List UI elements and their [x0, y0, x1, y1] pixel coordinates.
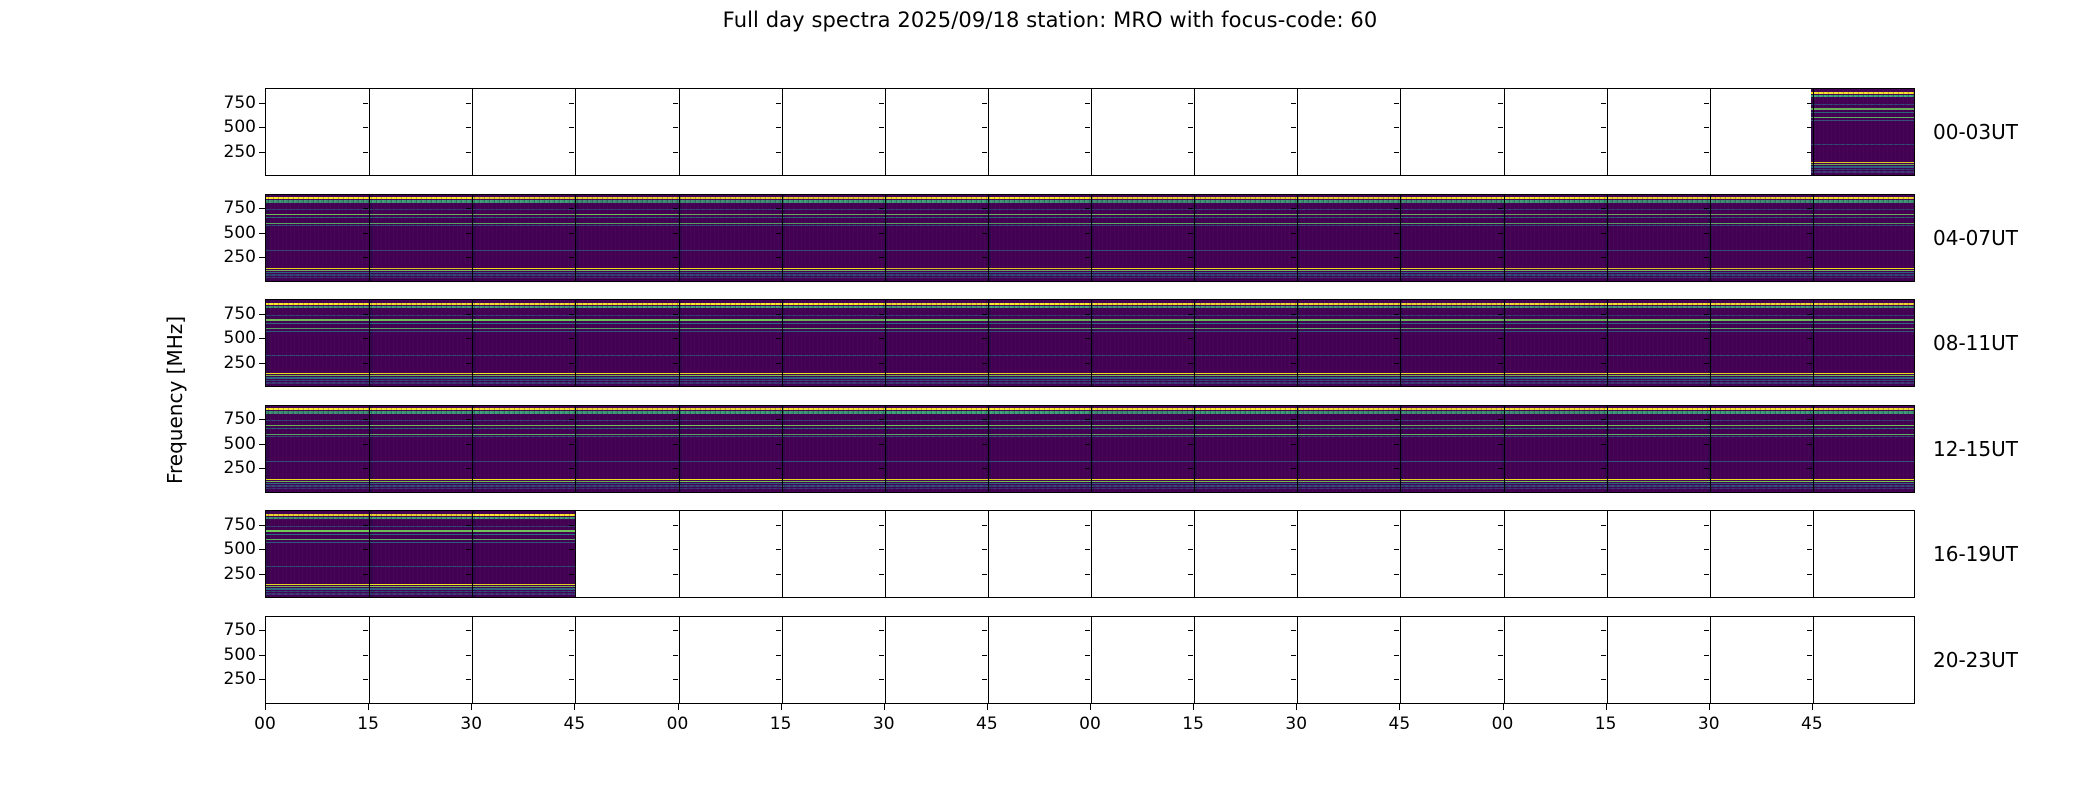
spectral-band	[987, 303, 1090, 305]
spectral-band	[472, 331, 575, 332]
spectral-band	[1811, 277, 1914, 279]
y-axis-tick	[259, 314, 265, 315]
spectral-band	[1811, 270, 1914, 271]
y-axis-minor-tick	[1394, 525, 1399, 526]
y-axis-minor-tick	[1601, 574, 1606, 575]
y-axis-minor-tick	[466, 655, 471, 656]
spectral-band	[884, 436, 987, 437]
spectral-band	[369, 514, 472, 516]
spectral-band	[369, 200, 472, 202]
spectrogram-panel[interactable]	[575, 89, 678, 175]
spectral-band	[472, 591, 575, 593]
y-axis-tick-label: 500	[224, 434, 256, 454]
spectral-band	[1296, 355, 1399, 356]
spectrogram-panel[interactable]	[1811, 617, 1914, 703]
spectral-band	[987, 461, 1090, 462]
spectral-band	[1296, 408, 1399, 410]
y-axis-minor-tick	[1601, 419, 1606, 420]
panel-separator	[1091, 300, 1092, 386]
y-axis-minor-tick	[1601, 444, 1606, 445]
spectral-band	[678, 323, 781, 324]
spectral-band	[266, 539, 369, 540]
y-axis-minor-tick	[1601, 257, 1606, 258]
spectrogram-panel[interactable]	[1090, 617, 1193, 703]
spectrogram-panel[interactable]	[1090, 406, 1193, 492]
spectral-band	[1605, 225, 1708, 226]
spectral-band	[987, 315, 1090, 316]
y-axis-minor-tick	[466, 419, 471, 420]
spectral-band	[1193, 483, 1296, 485]
spectrogram-panel[interactable]	[266, 89, 369, 175]
spectral-band	[1502, 377, 1605, 379]
y-axis-minor-tick	[1085, 208, 1090, 209]
spectral-band	[1811, 375, 1914, 376]
spectral-band	[1399, 209, 1502, 210]
spectrogram-panel[interactable]	[1708, 406, 1811, 492]
spectrogram-panel[interactable]	[1296, 406, 1399, 492]
spectral-band	[884, 225, 987, 226]
y-axis-minor-tick	[466, 257, 471, 258]
spectrogram-panel[interactable]	[781, 195, 884, 281]
y-axis-minor-tick	[879, 257, 884, 258]
spectral-band	[678, 488, 781, 490]
y-axis-minor-tick	[363, 679, 368, 680]
y-axis-minor-tick	[1807, 655, 1812, 656]
spectral-band	[1605, 377, 1708, 379]
y-axis-tick	[259, 419, 265, 420]
spectral-band	[781, 377, 884, 379]
spectrogram-panel[interactable]	[678, 617, 781, 703]
spectral-band	[472, 277, 575, 279]
spectral-band	[678, 214, 781, 215]
spectrogram-panel[interactable]	[1090, 300, 1193, 386]
spectrogram-row: 25050075020-23UT001530450015304500153045…	[265, 616, 1915, 704]
y-axis-minor-tick	[1394, 152, 1399, 153]
spectrogram-panel[interactable]	[781, 300, 884, 386]
spectral-band	[575, 382, 678, 384]
spectral-band	[575, 217, 678, 218]
spectrogram-panel[interactable]	[575, 300, 678, 386]
panel-separator	[1504, 300, 1505, 386]
spectral-band	[884, 483, 987, 485]
spectrogram-panel[interactable]	[266, 195, 369, 281]
spectral-band	[678, 274, 781, 276]
y-axis-minor-tick	[1601, 363, 1606, 364]
spectrogram-panel[interactable]	[1502, 300, 1605, 386]
spectrogram-panel[interactable]	[1502, 511, 1605, 597]
x-axis-tick-label: 45	[976, 714, 998, 734]
spectral-band	[575, 277, 678, 279]
y-axis-minor-tick	[1085, 152, 1090, 153]
spectrogram-panel[interactable]	[266, 406, 369, 492]
spectral-band	[369, 428, 472, 429]
spectral-band	[1811, 328, 1914, 329]
panel-separator	[575, 300, 576, 386]
y-axis-minor-tick	[1291, 152, 1296, 153]
spectral-band	[678, 209, 781, 210]
spectrogram-panel[interactable]	[1193, 406, 1296, 492]
y-axis-tick-label: 250	[224, 458, 256, 478]
spectral-band	[1399, 411, 1502, 413]
x-axis-tick-label: 00	[667, 714, 689, 734]
y-axis-minor-tick	[879, 468, 884, 469]
spectral-band	[369, 277, 472, 279]
panel-separator	[575, 89, 576, 175]
y-axis-minor-tick	[879, 525, 884, 526]
spectrogram-panel[interactable]	[266, 511, 369, 597]
row-axes	[265, 405, 1915, 493]
spectral-band	[1193, 355, 1296, 356]
spectrogram-panel[interactable]	[1399, 406, 1502, 492]
spectrogram-panel[interactable]	[987, 617, 1090, 703]
spectrogram-panel[interactable]	[472, 617, 575, 703]
spectral-band	[369, 197, 472, 199]
spectrogram-panel[interactable]	[369, 89, 472, 175]
spectrogram-panel[interactable]	[1296, 300, 1399, 386]
spectrogram-panel[interactable]	[1399, 195, 1502, 281]
spectrogram-panel[interactable]	[678, 511, 781, 597]
spectrogram-panel[interactable]	[1399, 617, 1502, 703]
spectral-band	[1708, 485, 1811, 487]
y-axis-minor-tick	[1807, 574, 1812, 575]
y-axis-tick-label: 250	[224, 247, 256, 267]
spectrogram-panel[interactable]	[1090, 511, 1193, 597]
spectral-band	[1708, 209, 1811, 210]
y-axis-tick-label: 500	[224, 645, 256, 665]
spectrogram-panel[interactable]	[1193, 511, 1296, 597]
spectrogram-panel[interactable]	[1502, 195, 1605, 281]
panel-separator	[472, 617, 473, 703]
y-axis-minor-tick	[776, 127, 781, 128]
spectrogram-panel[interactable]	[678, 195, 781, 281]
panel-separator	[472, 195, 473, 281]
y-axis-minor-tick	[1807, 630, 1812, 631]
y-axis-minor-tick	[569, 444, 574, 445]
spectrogram-panel[interactable]	[1708, 89, 1811, 175]
spectral-band	[1090, 408, 1193, 410]
spectral-band	[1090, 225, 1193, 226]
spectral-band	[987, 319, 1090, 320]
spectral-band	[987, 217, 1090, 218]
spectral-band	[678, 380, 781, 382]
panel-separator	[472, 300, 473, 386]
spectral-band	[1193, 380, 1296, 382]
spectrogram-panel[interactable]	[1296, 89, 1399, 175]
spectrogram-panel[interactable]	[1605, 89, 1708, 175]
spectral-band	[678, 411, 781, 413]
spectrogram-panel[interactable]	[1811, 511, 1914, 597]
y-axis-minor-tick	[1498, 630, 1503, 631]
spectral-band	[1399, 481, 1502, 482]
spectrogram-panel[interactable]	[369, 300, 472, 386]
spectrogram-panel[interactable]	[1502, 617, 1605, 703]
spectral-band	[1296, 315, 1399, 316]
panel-separator	[1194, 300, 1195, 386]
spectral-band	[1399, 200, 1502, 202]
y-axis-minor-tick	[1498, 338, 1503, 339]
spectrogram-panel[interactable]	[1605, 300, 1708, 386]
spectral-band	[266, 542, 369, 543]
spectral-band	[1296, 411, 1399, 413]
y-axis-minor-tick	[673, 655, 678, 656]
spectrogram-panel[interactable]	[369, 511, 472, 597]
spectrogram-panel[interactable]	[472, 195, 575, 281]
spectrogram-panel[interactable]	[1502, 406, 1605, 492]
spectral-band	[1399, 270, 1502, 271]
spectrogram-panel[interactable]	[266, 300, 369, 386]
spectrogram-panel[interactable]	[1399, 89, 1502, 175]
spectral-band	[884, 209, 987, 210]
spectrogram-panel[interactable]	[472, 511, 575, 597]
spectral-band	[884, 270, 987, 271]
y-axis-minor-tick	[673, 233, 678, 234]
spectral-band	[1502, 270, 1605, 271]
y-axis-tick-label: 250	[224, 564, 256, 584]
spectral-band	[678, 377, 781, 379]
y-axis-minor-tick	[1498, 314, 1503, 315]
spectral-band	[472, 223, 575, 224]
spectrogram-panel[interactable]	[266, 617, 369, 703]
spectral-band	[472, 586, 575, 587]
y-axis-minor-tick	[879, 630, 884, 631]
spectral-band	[678, 375, 781, 376]
y-axis-minor-tick	[466, 679, 471, 680]
spectrogram-panel[interactable]	[1811, 89, 1914, 175]
panel-separator	[1710, 406, 1711, 492]
row-time-label: 04-07UT	[1933, 226, 2018, 250]
spectrogram-panel[interactable]	[472, 406, 575, 492]
spectrogram-panel[interactable]	[1399, 300, 1502, 386]
y-axis-minor-tick	[466, 574, 471, 575]
spectrogram-panel[interactable]	[369, 406, 472, 492]
y-axis-minor-tick	[1704, 419, 1709, 420]
y-axis-minor-tick	[673, 127, 678, 128]
spectral-band	[266, 209, 369, 210]
spectral-band	[1502, 485, 1605, 487]
y-axis-minor-tick	[982, 152, 987, 153]
spectral-band	[781, 485, 884, 487]
spectral-band	[781, 225, 884, 226]
y-axis-minor-tick	[982, 655, 987, 656]
spectrogram-panel[interactable]	[884, 89, 987, 175]
spectral-band	[987, 485, 1090, 487]
spectrogram-panel[interactable]	[1296, 511, 1399, 597]
y-axis-minor-tick	[1498, 679, 1503, 680]
spectral-band	[1502, 200, 1605, 202]
spectrogram-panel[interactable]	[1193, 300, 1296, 386]
panel-separator	[679, 617, 680, 703]
spectrogram-panel[interactable]	[575, 406, 678, 492]
x-axis-tick-label: 30	[1285, 714, 1307, 734]
spectral-band	[1193, 481, 1296, 482]
spectrogram-panel[interactable]	[1811, 195, 1914, 281]
spectral-band	[1193, 214, 1296, 215]
spectral-band	[1811, 485, 1914, 487]
spectral-band	[1708, 274, 1811, 276]
spectrogram-panel[interactable]	[678, 300, 781, 386]
spectral-band	[1605, 425, 1708, 426]
spectrogram-panel[interactable]	[1605, 406, 1708, 492]
panel-separator	[1297, 511, 1298, 597]
spectrogram-panel[interactable]	[678, 406, 781, 492]
spectral-band	[1399, 315, 1502, 316]
spectrogram-panel[interactable]	[1296, 617, 1399, 703]
y-axis-minor-tick	[1704, 152, 1709, 153]
y-axis-minor-tick	[1085, 679, 1090, 680]
spectral-band	[781, 408, 884, 410]
spectrogram-panel[interactable]	[1090, 89, 1193, 175]
y-axis-minor-tick	[1498, 655, 1503, 656]
panel-separator	[1400, 617, 1401, 703]
y-axis-minor-tick	[1188, 655, 1193, 656]
x-axis-tick	[781, 704, 782, 710]
spectral-band	[678, 420, 781, 421]
spectral-band	[1399, 306, 1502, 308]
spectrogram-panel[interactable]	[987, 300, 1090, 386]
spectrogram-panel[interactable]	[1605, 195, 1708, 281]
spectrogram-panel[interactable]	[369, 195, 472, 281]
spectrogram-panel[interactable]	[1296, 195, 1399, 281]
spectrogram-panel[interactable]	[1090, 195, 1193, 281]
spectral-band	[575, 223, 678, 224]
spectral-band	[678, 200, 781, 202]
spectral-band	[1193, 485, 1296, 487]
spectrogram-panel[interactable]	[1708, 511, 1811, 597]
spectral-band	[1502, 277, 1605, 279]
spectral-band	[884, 461, 987, 462]
spectral-band	[1296, 197, 1399, 199]
panel-separator	[1710, 195, 1711, 281]
spectrogram-panel[interactable]	[678, 89, 781, 175]
spectrogram-panel[interactable]	[1708, 617, 1811, 703]
spectral-band	[781, 481, 884, 482]
spectrogram-panel[interactable]	[1502, 89, 1605, 175]
spectrogram-panel[interactable]	[1193, 195, 1296, 281]
spectral-band	[1399, 420, 1502, 421]
y-axis-minor-tick	[363, 363, 368, 364]
spectrogram-panel[interactable]	[1811, 300, 1914, 386]
spectral-band	[1708, 355, 1811, 356]
spectral-band	[1399, 355, 1502, 356]
y-axis-minor-tick	[1394, 630, 1399, 631]
spectral-band	[369, 483, 472, 485]
y-axis-minor-tick	[982, 630, 987, 631]
spectrogram-panel[interactable]	[1811, 406, 1914, 492]
spectrogram-panel[interactable]	[781, 617, 884, 703]
spectrogram-panel[interactable]	[781, 406, 884, 492]
y-axis-minor-tick	[776, 549, 781, 550]
spectral-band	[1811, 217, 1914, 218]
spectrogram-panel[interactable]	[987, 89, 1090, 175]
spectrogram-panel[interactable]	[884, 300, 987, 386]
spectral-band	[1296, 375, 1399, 376]
spectral-band	[1399, 382, 1502, 384]
spectral-band	[472, 382, 575, 384]
spectral-band	[472, 514, 575, 516]
y-axis-minor-tick	[776, 233, 781, 234]
spectrogram-panel[interactable]	[575, 511, 678, 597]
spectral-band	[369, 485, 472, 487]
x-axis-tick-label: 00	[254, 714, 276, 734]
spectral-band	[266, 250, 369, 251]
y-axis-minor-tick	[1601, 525, 1606, 526]
spectral-band	[369, 319, 472, 320]
spectrogram-panel[interactable]	[1193, 617, 1296, 703]
x-axis-tick	[1296, 704, 1297, 710]
y-axis-minor-tick	[1188, 679, 1193, 680]
spectrogram-panel[interactable]	[884, 511, 987, 597]
spectrogram-panel[interactable]	[1708, 300, 1811, 386]
spectral-band	[575, 380, 678, 382]
spectral-band	[678, 481, 781, 482]
spectral-band	[369, 534, 472, 535]
panel-separator	[1400, 89, 1401, 175]
y-axis-minor-tick	[879, 208, 884, 209]
y-axis-minor-tick	[776, 444, 781, 445]
spectrogram-panel[interactable]	[1193, 89, 1296, 175]
panel-separator	[1194, 195, 1195, 281]
spectral-band	[884, 323, 987, 324]
spectrogram-panel[interactable]	[1605, 511, 1708, 597]
y-axis-minor-tick	[1807, 233, 1812, 234]
spectral-band	[781, 375, 884, 376]
spectral-band	[1811, 223, 1914, 224]
spectrogram-panel[interactable]	[781, 89, 884, 175]
spectrogram-panel[interactable]	[575, 617, 678, 703]
x-axis-tick-label: 15	[770, 714, 792, 734]
x-axis-tick	[1399, 704, 1400, 710]
spectral-band	[1502, 225, 1605, 226]
spectral-band	[369, 217, 472, 218]
panel-separator	[679, 89, 680, 175]
spectrogram-panel[interactable]	[575, 195, 678, 281]
spectrogram-panel[interactable]	[472, 89, 575, 175]
y-axis-minor-tick	[1807, 103, 1812, 104]
spectral-band	[266, 274, 369, 276]
panel-separator	[369, 300, 370, 386]
spectral-band	[1090, 380, 1193, 382]
y-axis-minor-tick	[673, 419, 678, 420]
spectrogram-panel[interactable]	[987, 406, 1090, 492]
spectral-band	[1502, 319, 1605, 320]
spectrogram-panel[interactable]	[472, 300, 575, 386]
spectral-band	[987, 274, 1090, 276]
spectral-band	[1708, 483, 1811, 485]
spectrogram-panel[interactable]	[884, 406, 987, 492]
y-axis-minor-tick	[1498, 574, 1503, 575]
spectrogram-panel[interactable]	[1605, 617, 1708, 703]
spectrogram-row: 25050075016-19UT	[265, 510, 1915, 598]
y-axis-minor-tick	[1394, 419, 1399, 420]
y-axis-minor-tick	[569, 525, 574, 526]
row-time-label: 12-15UT	[1933, 437, 2018, 461]
spectral-band	[1811, 164, 1914, 165]
spectrogram-panel[interactable]	[987, 195, 1090, 281]
y-axis-minor-tick	[776, 679, 781, 680]
spectral-band	[369, 539, 472, 540]
spectrogram-panel[interactable]	[1399, 511, 1502, 597]
spectrogram-panel[interactable]	[781, 511, 884, 597]
y-axis-minor-tick	[1085, 574, 1090, 575]
spectrogram-panel[interactable]	[884, 617, 987, 703]
spectrogram-panel[interactable]	[1708, 195, 1811, 281]
y-axis-minor-tick	[363, 574, 368, 575]
spectrogram-panel[interactable]	[987, 511, 1090, 597]
spectrogram-panel[interactable]	[884, 195, 987, 281]
spectral-band	[472, 328, 575, 329]
spectrogram-panel[interactable]	[369, 617, 472, 703]
spectral-band	[1090, 434, 1193, 435]
